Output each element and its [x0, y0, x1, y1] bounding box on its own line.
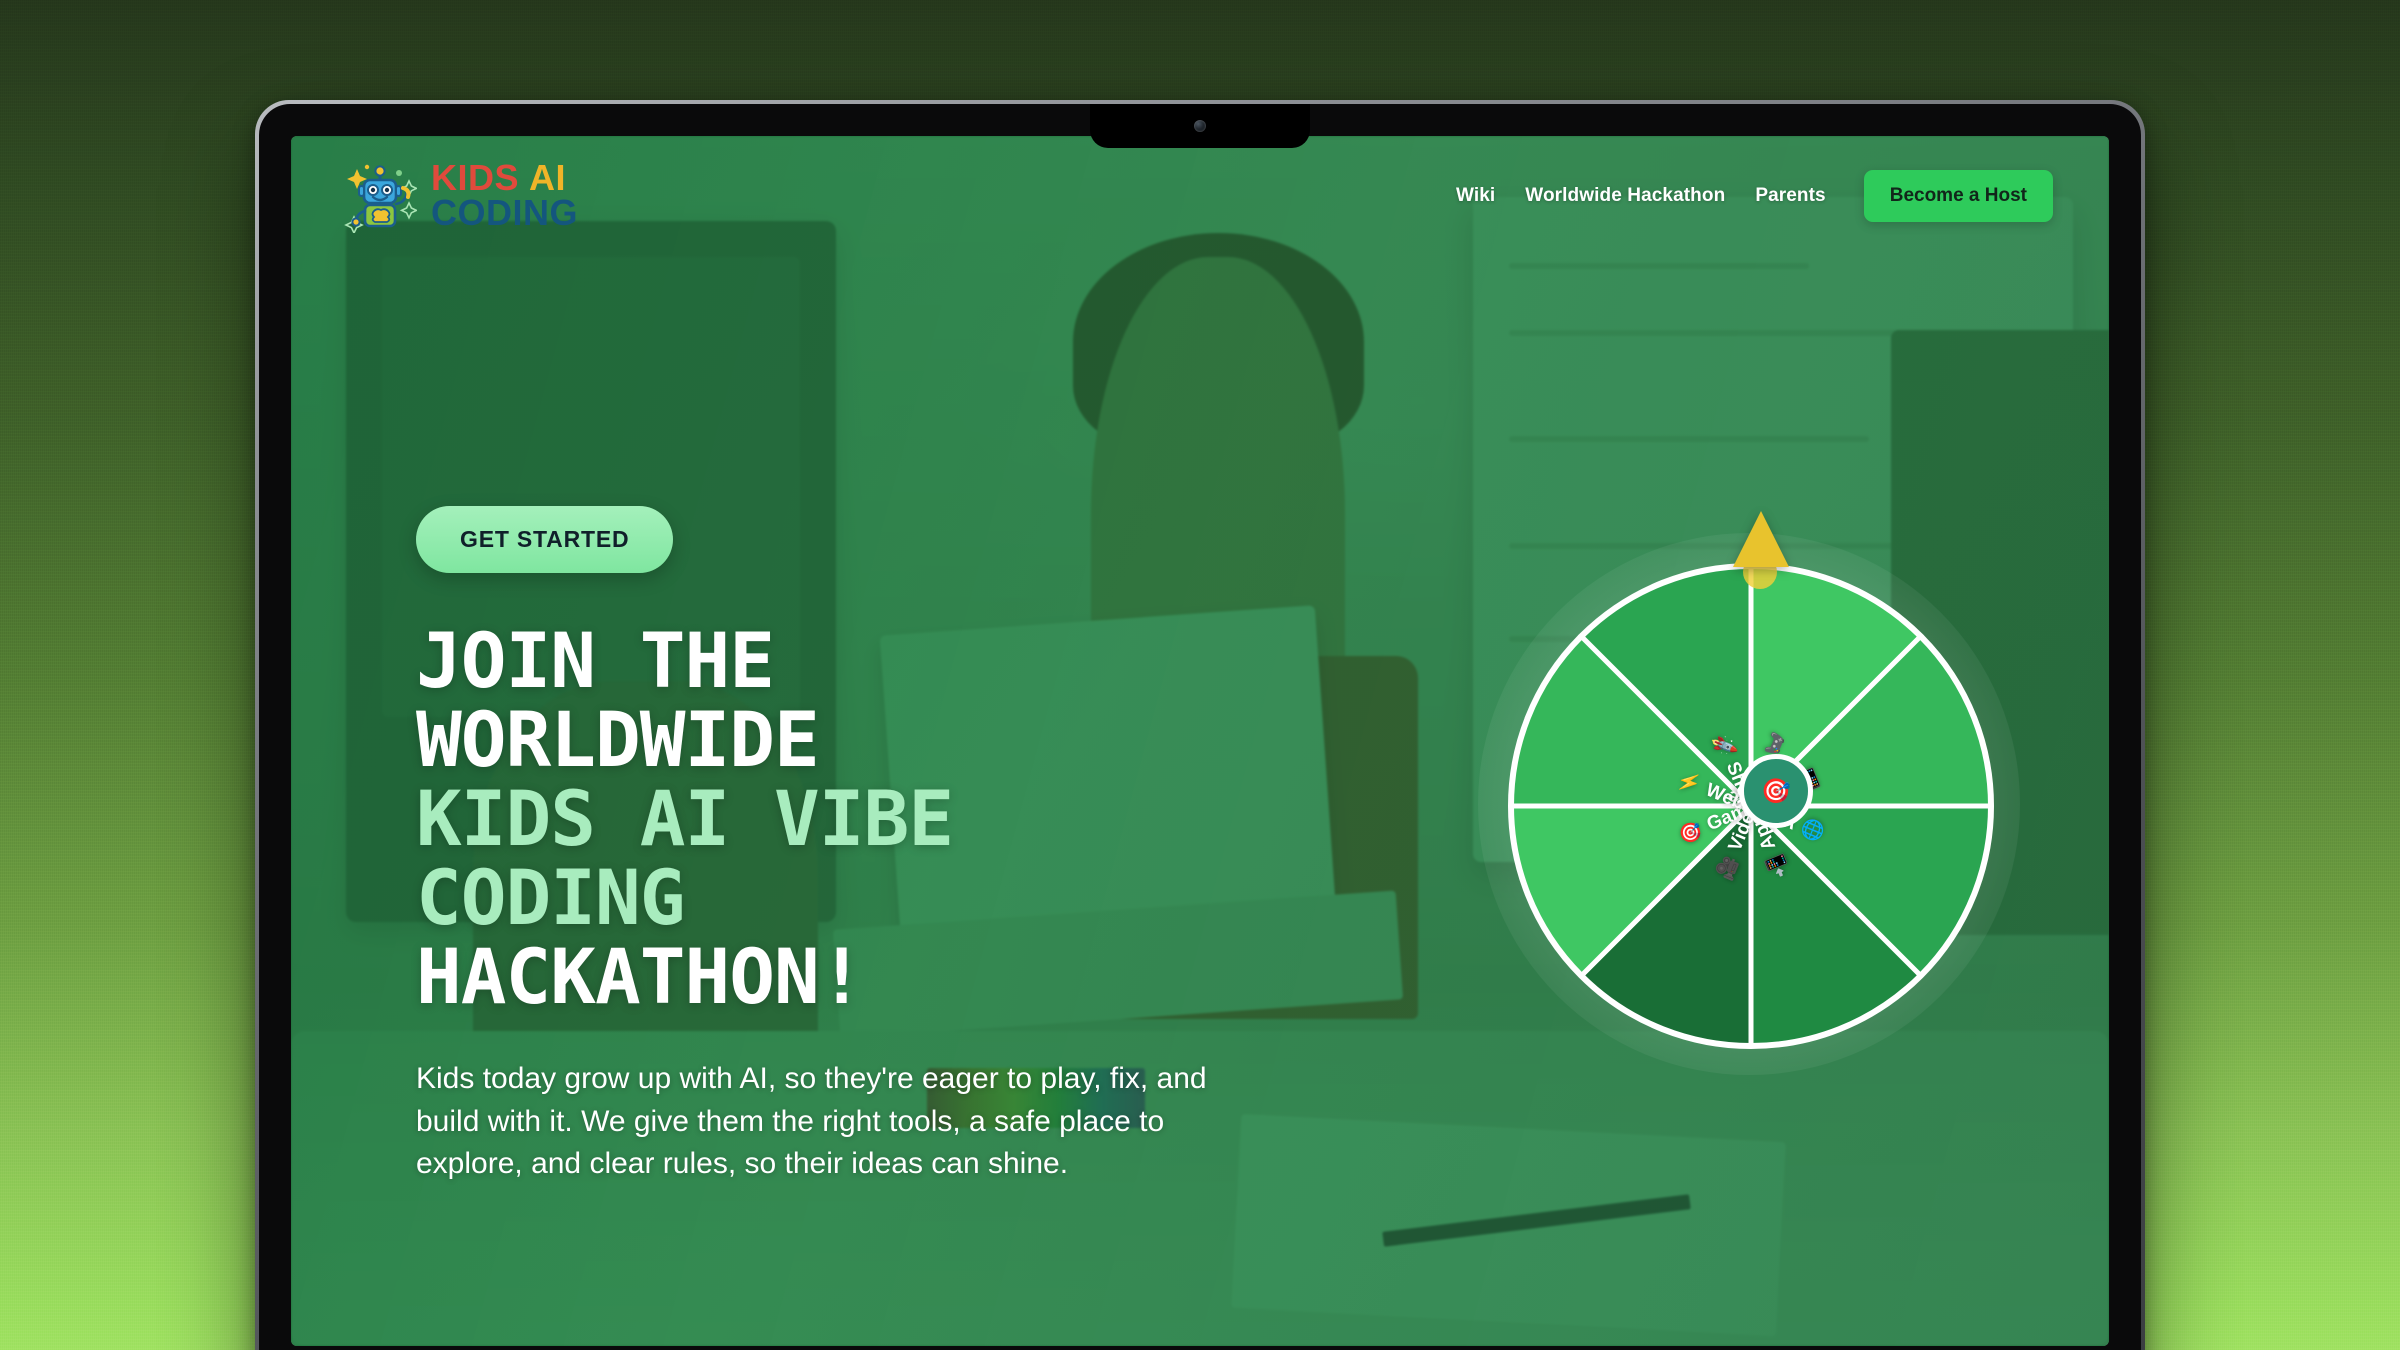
hero-title: JOIN THE WORLDWIDE KIDS AI VIBE CODING H…: [416, 621, 1266, 1016]
hero-title-line-1: JOIN THE: [416, 621, 1266, 700]
nav-link-parents[interactable]: Parents: [1755, 185, 1825, 207]
brand-logo[interactable]: KIDSAI CODING: [343, 159, 578, 233]
laptop-screen: KIDSAI CODING Wiki Worldwide Hackathon P…: [291, 136, 2109, 1346]
camera-dot-icon: [1194, 120, 1206, 132]
triangle-pointer-icon: [1733, 511, 1789, 567]
hero-title-line-4: CODING: [416, 858, 1266, 937]
hero-paragraph: Kids today grow up with AI, so they're e…: [416, 1058, 1216, 1186]
hero-title-line-3: KIDS AI VIBE: [416, 779, 1266, 858]
hero-title-line-2: WORLDWIDE: [416, 700, 1266, 779]
wheel-hub[interactable]: 🎯: [1739, 754, 1813, 828]
site-header: KIDSAI CODING Wiki Worldwide Hackathon P…: [291, 136, 2109, 256]
hero-title-line-5: HACKATHON!: [416, 937, 1266, 1016]
main-navigation: Wiki Worldwide Hackathon Parents Become …: [1456, 170, 2053, 222]
nav-link-worldwide-hackathon[interactable]: Worldwide Hackathon: [1525, 185, 1725, 207]
become-a-host-button[interactable]: Become a Host: [1864, 170, 2053, 222]
brand-wordmark: KIDSAI CODING: [431, 161, 578, 230]
laptop-bezel: KIDSAI CODING Wiki Worldwide Hackathon P…: [259, 104, 2141, 1350]
hero-content: GET STARTED JOIN THE WORLDWIDE KIDS AI V…: [416, 506, 1266, 1186]
robot-brain-icon: [343, 159, 417, 233]
laptop-device-frame: KIDSAI CODING Wiki Worldwide Hackathon P…: [255, 100, 2145, 1350]
laptop-notch: [1090, 104, 1310, 148]
get-started-button[interactable]: GET STARTED: [416, 506, 673, 573]
nav-link-wiki[interactable]: Wiki: [1456, 185, 1495, 207]
brand-word-coding: CODING: [431, 196, 578, 231]
dart-target-icon: 🎯: [1761, 777, 1791, 806]
spin-wheel[interactable]: 🎮Game📱Social🌐Website📲App🎥Video🎯Game⚡Web …: [1506, 511, 2046, 1071]
